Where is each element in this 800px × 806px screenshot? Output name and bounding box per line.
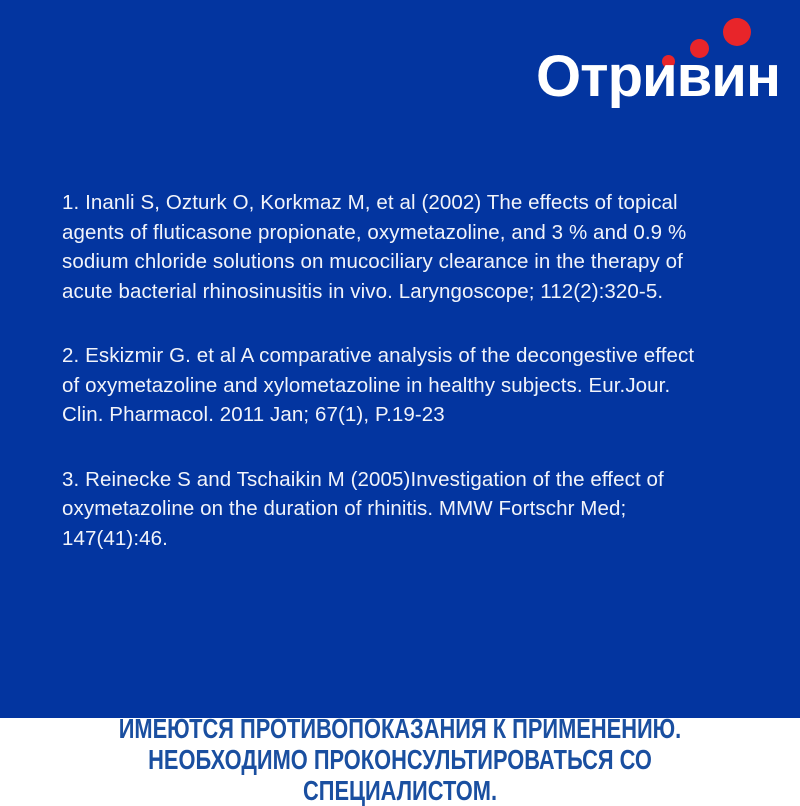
reference-item: 1. Inanli S, Ozturk O, Korkmaz M, et al … — [62, 188, 710, 306]
logo-wordmark: Отривин — [536, 48, 780, 106]
reference-list: 1. Inanli S, Ozturk O, Korkmaz M, et al … — [62, 188, 710, 553]
warning-banner: ИМЕЮТСЯ ПРОТИВОПОКАЗАНИЯ К ПРИМЕНЕНИЮ. Н… — [0, 718, 800, 800]
advertisement-slide: Отривин 1. Inanli S, Ozturk O, Korkmaz M… — [0, 0, 800, 800]
logo-dot-large-icon — [723, 18, 751, 46]
brand-logo: Отривин — [480, 14, 780, 106]
warning-banner-text: ИМЕЮТСЯ ПРОТИВОПОКАЗАНИЯ К ПРИМЕНЕНИЮ. Н… — [93, 713, 708, 806]
reference-item: 3. Reinecke S and Tschaikin M (2005)Inve… — [62, 465, 710, 554]
reference-item: 2. Eskizmir G. et al A comparative analy… — [62, 341, 710, 430]
